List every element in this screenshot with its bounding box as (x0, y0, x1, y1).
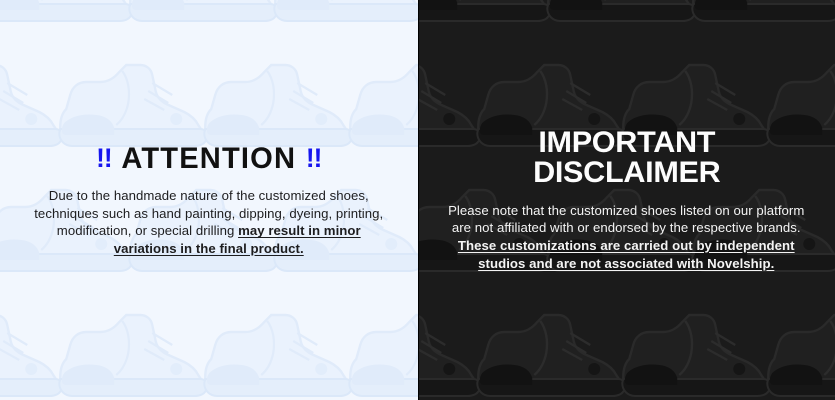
disclaimer-panel: IMPORTANT DISCLAIMER Please note that th… (418, 0, 835, 400)
double-exclamation-right-icon: !! (306, 144, 322, 172)
disclaimer-heading-line1: IMPORTANT (440, 128, 813, 158)
disclaimer-content: IMPORTANT DISCLAIMER Please note that th… (418, 128, 835, 272)
disclaimer-heading-line2: DISCLAIMER (440, 158, 813, 188)
disclaimer-heading: IMPORTANT DISCLAIMER (440, 128, 813, 188)
attention-content: !!ATTENTION!! Due to the handmade nature… (0, 143, 418, 258)
attention-heading: !!ATTENTION!! (31, 143, 386, 175)
disclaimer-body-emphasis: These customizations are carried out by … (458, 238, 795, 271)
attention-title: ATTENTION (121, 142, 296, 175)
disclaimer-body-normal: Please note that the customized shoes li… (448, 203, 804, 236)
disclaimer-banner: !!ATTENTION!! Due to the handmade nature… (0, 0, 835, 400)
disclaimer-body: Please note that the customized shoes li… (444, 202, 810, 272)
attention-body: Due to the handmade nature of the custom… (26, 187, 392, 257)
double-exclamation-left-icon: !! (96, 144, 112, 172)
panel-divider (418, 0, 419, 400)
attention-panel: !!ATTENTION!! Due to the handmade nature… (0, 0, 418, 400)
